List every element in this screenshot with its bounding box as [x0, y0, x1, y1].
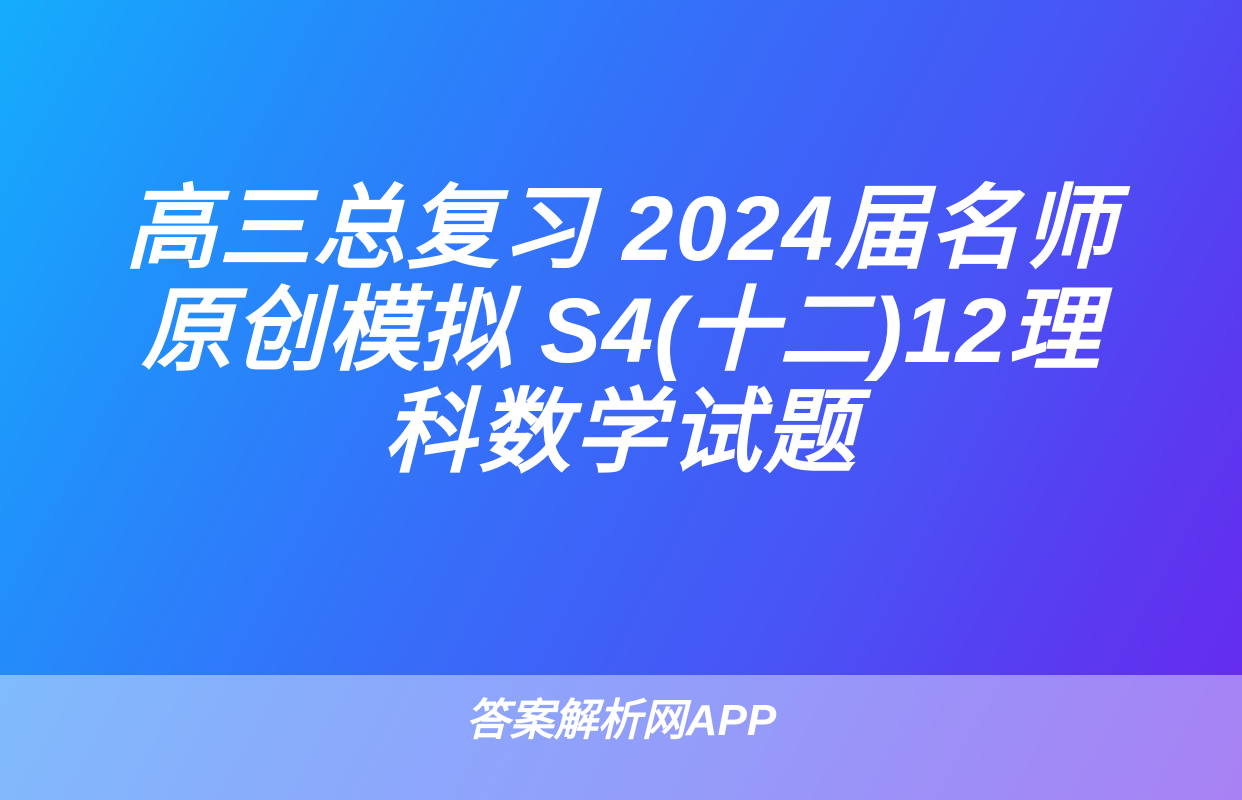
watermark-label: 答案解析网APP — [0, 695, 1242, 747]
cover-card: 高三总复习 2024届名师 原创模拟 S4(十二)12理 科数学试题 答案解析网… — [0, 0, 1242, 800]
headline-line-3: 科数学试题 — [0, 382, 1242, 484]
headline-line-2: 原创模拟 S4(十二)12理 — [0, 280, 1242, 382]
headline-title: 高三总复习 2024届名师 原创模拟 S4(十二)12理 科数学试题 — [0, 178, 1242, 484]
headline-line-1: 高三总复习 2024届名师 — [0, 178, 1242, 280]
footer-band: 答案解析网APP — [0, 675, 1242, 800]
